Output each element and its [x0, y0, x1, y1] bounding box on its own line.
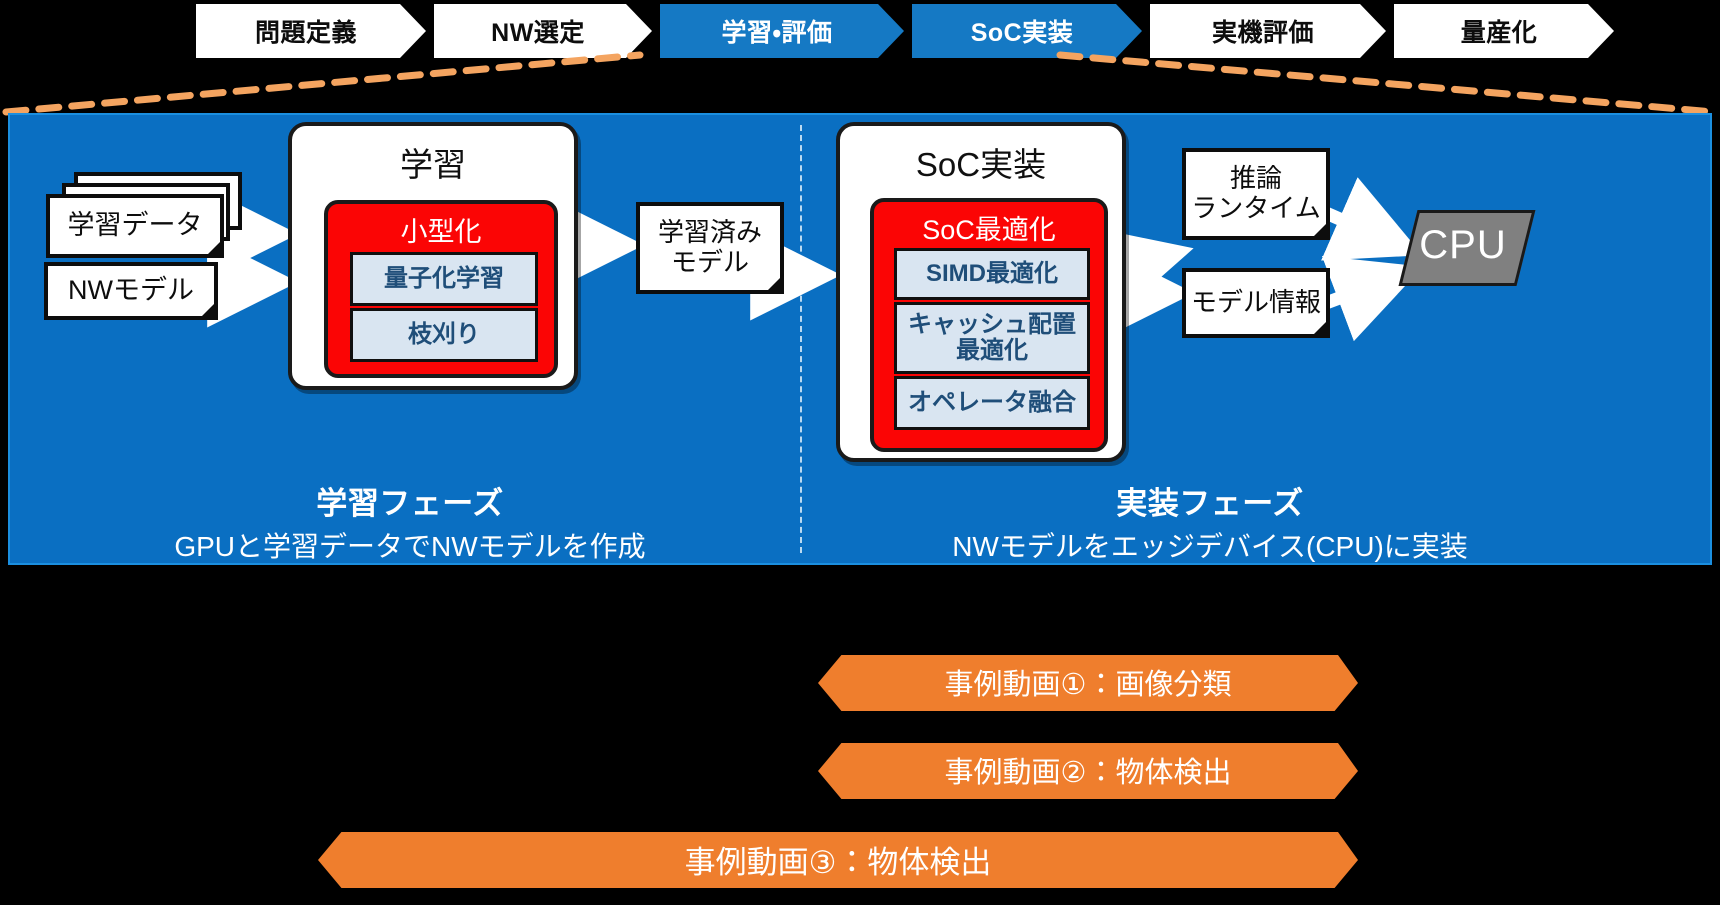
training-data-card-stack: 学習データ [46, 172, 236, 254]
case-video-arrow-1[interactable]: 事例動画①：画像分類 [818, 655, 1358, 711]
chip-label: SIMD最適化 [926, 261, 1058, 287]
soc-optimization-title: SoC最適化 [874, 208, 1104, 247]
process-step-label: 学習・評価 [721, 13, 832, 49]
soc-process-box: SoC実装 SoC最適化 SIMD最適化 キャッシュ配置 最適化 オペレータ融合 [836, 122, 1126, 462]
trained-model-line2: モデル [671, 248, 749, 278]
miniaturization-box: 小型化 量子化学習 枝刈り [324, 200, 558, 378]
training-box-title: 学習 [292, 138, 574, 186]
model-info-note: モデル情報 [1182, 268, 1330, 338]
folded-corner-icon [1310, 318, 1330, 338]
chip-pruning[interactable]: 枝刈り [350, 308, 538, 362]
inference-runtime-line1: 推論 [1230, 164, 1282, 194]
case-video-arrow-3[interactable]: 事例動画③：物体検出 [318, 832, 1358, 888]
process-step-label: 量産化 [1461, 13, 1538, 49]
folded-corner-icon [204, 238, 224, 258]
nw-model-note: NWモデル [44, 262, 218, 320]
miniaturization-title: 小型化 [328, 210, 554, 249]
process-step-label: NW選定 [491, 13, 585, 49]
chip-label-line1: キャッシュ配置 [908, 312, 1076, 338]
implementation-phase-caption: 実装フェーズ NWモデルをエッジデバイス(CPU)に実装 [810, 478, 1610, 565]
case-video-label-1: 事例動画①：画像分類 [945, 661, 1232, 703]
chip-label: オペレータ融合 [908, 390, 1076, 416]
chip-simd-optimization[interactable]: SIMD最適化 [894, 248, 1090, 300]
folded-corner-icon [764, 274, 784, 294]
process-step-label: 実機評価 [1212, 13, 1314, 49]
inference-runtime-note: 推論 ランタイム [1182, 148, 1330, 240]
inference-runtime-line2: ランタイム [1191, 194, 1320, 224]
folded-corner-icon [198, 300, 218, 320]
trained-model-line1: 学習済み [658, 218, 762, 248]
implementation-phase-title: 実装フェーズ [810, 478, 1610, 523]
soc-optimization-box: SoC最適化 SIMD最適化 キャッシュ配置 最適化 オペレータ融合 [870, 198, 1108, 452]
process-step-label: SoC実装 [971, 13, 1074, 49]
chip-label-line2: 最適化 [956, 338, 1028, 364]
training-phase-subtitle: GPUと学習データでNWモデルを作成 [40, 525, 780, 565]
chip-quantization-training[interactable]: 量子化学習 [350, 252, 538, 306]
chip-cache-placement-optimization[interactable]: キャッシュ配置 最適化 [894, 302, 1090, 374]
implementation-phase-subtitle: NWモデルをエッジデバイス(CPU)に実装 [810, 525, 1610, 565]
cpu-label: CPU [1400, 210, 1526, 280]
process-step-label: 問題定義 [255, 13, 357, 49]
case-video-label-3: 事例動画③：物体検出 [685, 837, 992, 882]
chip-label: 枝刈り [408, 322, 480, 348]
zoom-connector-lines [0, 50, 1720, 116]
chip-label: 量子化学習 [384, 266, 504, 292]
training-data-label: 学習データ [68, 210, 203, 241]
training-phase-title: 学習フェーズ [40, 478, 780, 523]
training-data-note: 学習データ [46, 194, 224, 258]
phase-divider [800, 125, 802, 553]
trained-model-note: 学習済み モデル [636, 202, 784, 294]
nw-model-label: NWモデル [68, 275, 194, 306]
chip-operator-fusion[interactable]: オペレータ融合 [894, 376, 1090, 430]
soc-box-title: SoC実装 [840, 138, 1122, 186]
case-video-arrow-2[interactable]: 事例動画②：物体検出 [818, 743, 1358, 799]
model-info-label: モデル情報 [1191, 288, 1321, 318]
training-phase-caption: 学習フェーズ GPUと学習データでNWモデルを作成 [40, 478, 780, 565]
training-process-box: 学習 小型化 量子化学習 枝刈り [288, 122, 578, 390]
case-video-label-2: 事例動画②：物体検出 [945, 749, 1232, 791]
